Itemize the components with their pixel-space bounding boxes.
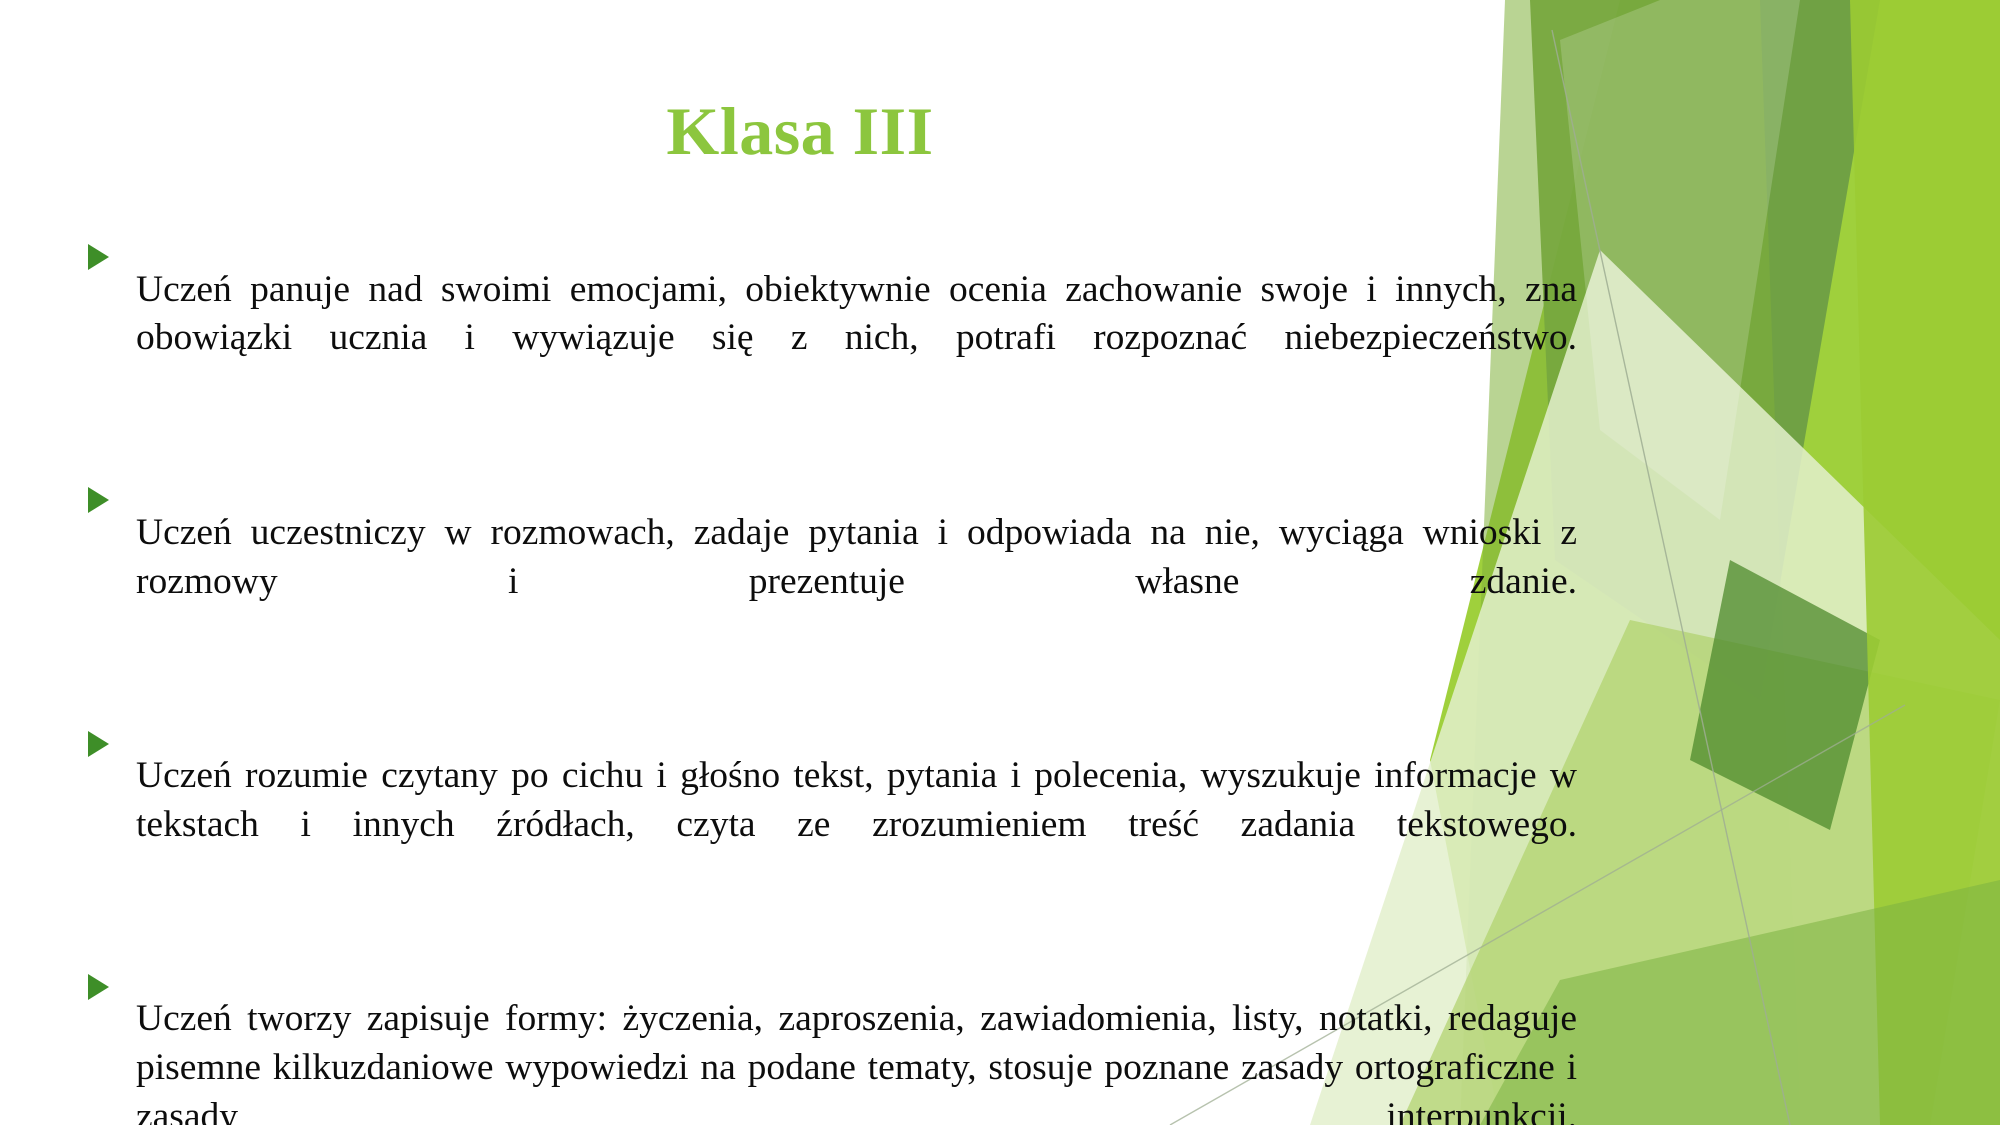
bullet-list: Uczeń panuje nad swoimi emocjami, obiekt… — [72, 228, 1577, 1125]
list-item: Uczeń rozumie czytany po cichu i głośno … — [72, 715, 1577, 936]
list-item-text: Uczeń uczestniczy w rozmowach, zadaje py… — [136, 509, 1577, 655]
presentation-slide: Klasa III Uczeń panuje nad swoimi emocja… — [0, 0, 2000, 1125]
list-item-text: Uczeń rozumie czytany po cichu i głośno … — [136, 752, 1577, 898]
list-item-text: Uczeń tworzy zapisuje formy: życzenia, z… — [136, 995, 1577, 1125]
list-item-text: Uczeń panuje nad swoimi emocjami, obiekt… — [136, 266, 1577, 412]
hairline-diagonal-top — [1552, 30, 1790, 1125]
list-item: Uczeń panuje nad swoimi emocjami, obiekt… — [72, 228, 1577, 449]
page-title: Klasa III — [666, 96, 933, 167]
triangle-right-icon — [72, 958, 136, 1000]
triangle-right-icon — [72, 228, 136, 270]
shape-upper-pale-overlay — [1560, 0, 1800, 520]
shape-bright-sliver — [1850, 0, 2000, 1125]
triangle-right-icon — [72, 715, 136, 757]
triangle-right-icon — [72, 471, 136, 513]
shape-deep-green-facet — [1690, 560, 1880, 830]
title-block: Klasa III — [0, 96, 1600, 167]
list-item: Uczeń uczestniczy w rozmowach, zadaje py… — [72, 471, 1577, 692]
list-item: Uczeń tworzy zapisuje formy: życzenia, z… — [72, 958, 1577, 1125]
